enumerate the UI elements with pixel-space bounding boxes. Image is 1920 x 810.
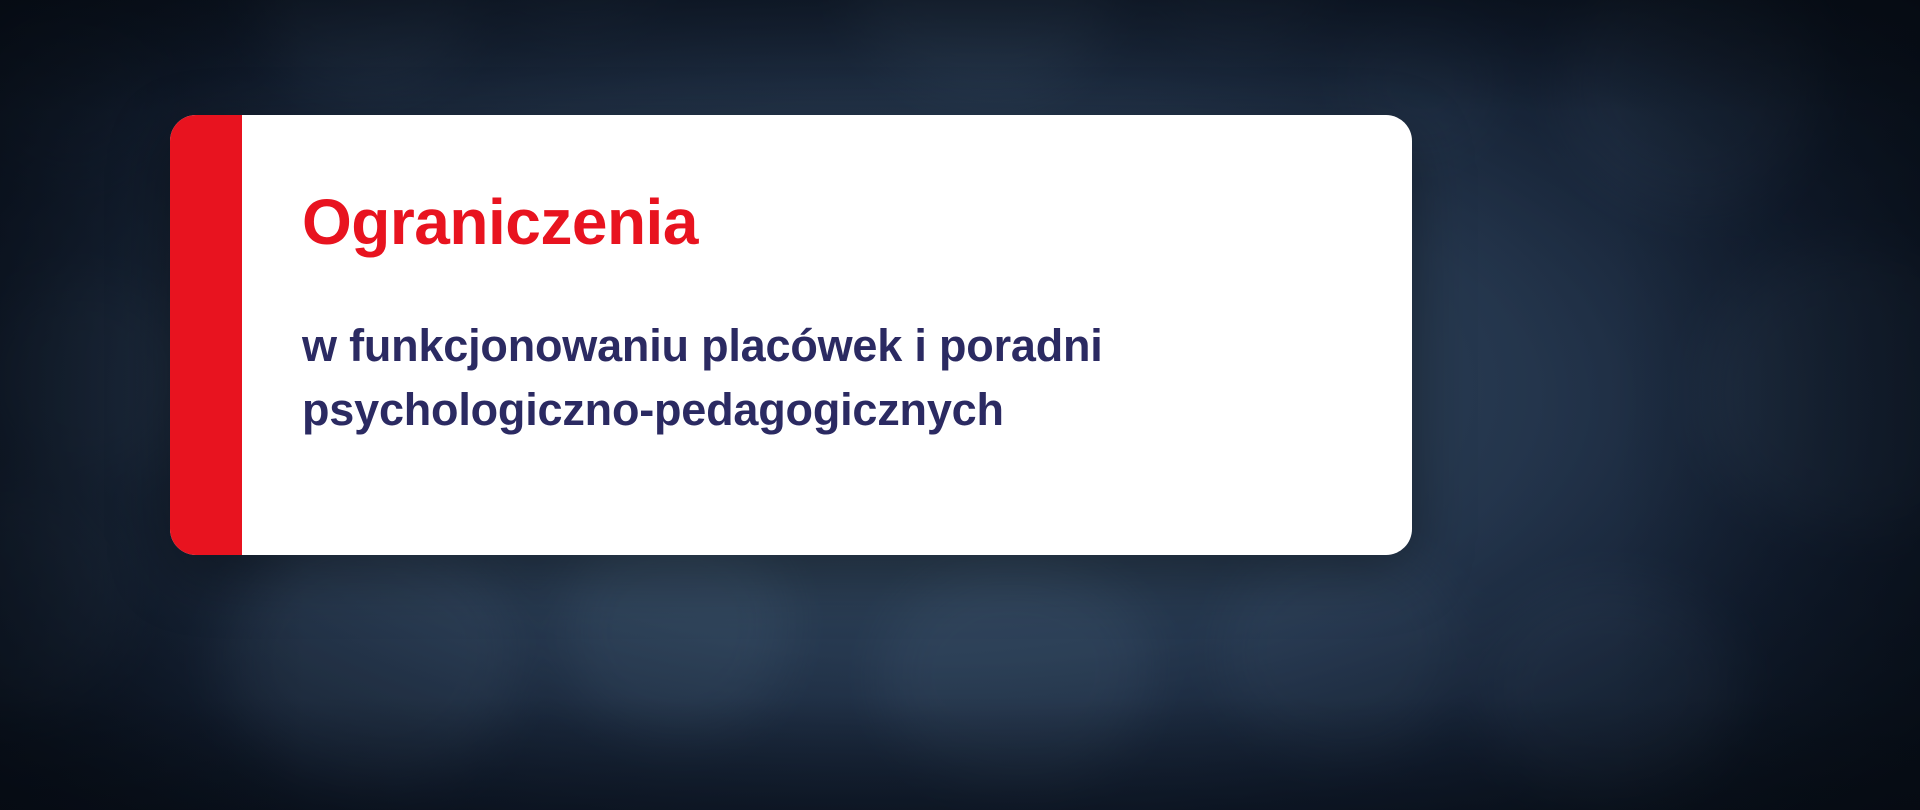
slide-subtitle-line-1: w funkcjonowaniu placówek i poradni <box>302 314 1356 378</box>
slide-root: Ograniczenia w funkcjonowaniu placówek i… <box>0 0 1920 810</box>
slide-subtitle: w funkcjonowaniu placówek i poradni psyc… <box>302 314 1356 442</box>
slide-subtitle-line-2: psychologiczno-pedagogicznych <box>302 378 1356 442</box>
content-card: Ograniczenia w funkcjonowaniu placówek i… <box>170 115 1412 555</box>
card-accent-bar <box>170 115 242 555</box>
card-body: Ograniczenia w funkcjonowaniu placówek i… <box>242 115 1412 555</box>
slide-title: Ograniczenia <box>302 189 1356 256</box>
